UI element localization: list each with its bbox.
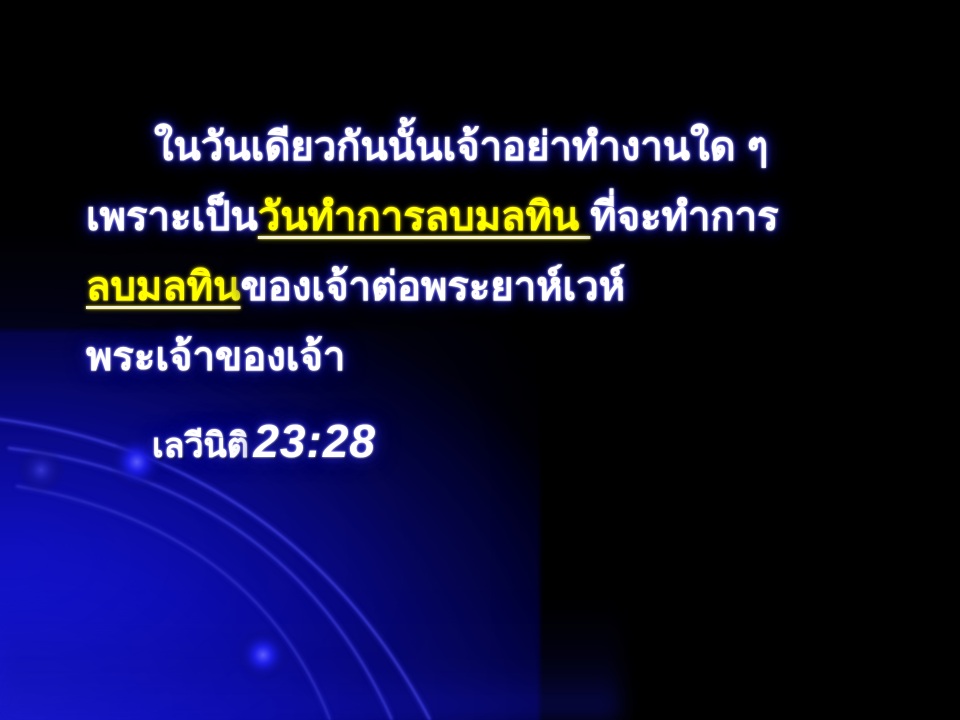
verse-line-3: ลบมลทินของเจ้าต่อพระยาห์เวห์ [86,252,886,322]
glow-dot-lower [237,629,289,681]
verse-line-2: เพราะเป็นวันทำการลบมลทิน ที่จะทำการ [86,182,886,252]
verse-line-4: พระเจ้าของเจ้า [86,322,886,392]
arc-inner [16,486,330,720]
citation-book: เลวีนิติ [152,427,249,465]
verse-line-3-highlight: ลบมลทิน [86,265,241,309]
presentation-slide: ในวันเดียวกันนั้นเจ้าอย่าทำงานใด ๆ เพราะ… [0,0,960,720]
verse-text-block: ในวันเดียวกันนั้นเจ้าอย่าทำงานใด ๆ เพราะ… [86,112,886,392]
verse-line-3-suffix: ของเจ้าต่อพระยาห์เวห์ [241,265,626,309]
scripture-citation: เลวีนิติ 23:28 [152,414,376,472]
verse-line-1: ในวันเดียวกันนั้นเจ้าอย่าทำงานใด ๆ [86,112,886,182]
arc-inner-halo [16,486,330,720]
verse-line-1-text: ในวันเดียวกันนั้นเจ้าอย่าทำงานใด ๆ [154,125,768,169]
verse-line-2-suffix: ที่จะทำการ [590,195,778,239]
verse-line-4-text: พระเจ้าของเจ้า [86,335,345,379]
glow-dot-left [17,446,65,494]
citation-reference: 23:28 [253,415,376,467]
verse-line-2-prefix: เพราะเป็น [86,195,258,239]
verse-line-2-highlight: วันทำการลบมลทิน [258,195,590,239]
